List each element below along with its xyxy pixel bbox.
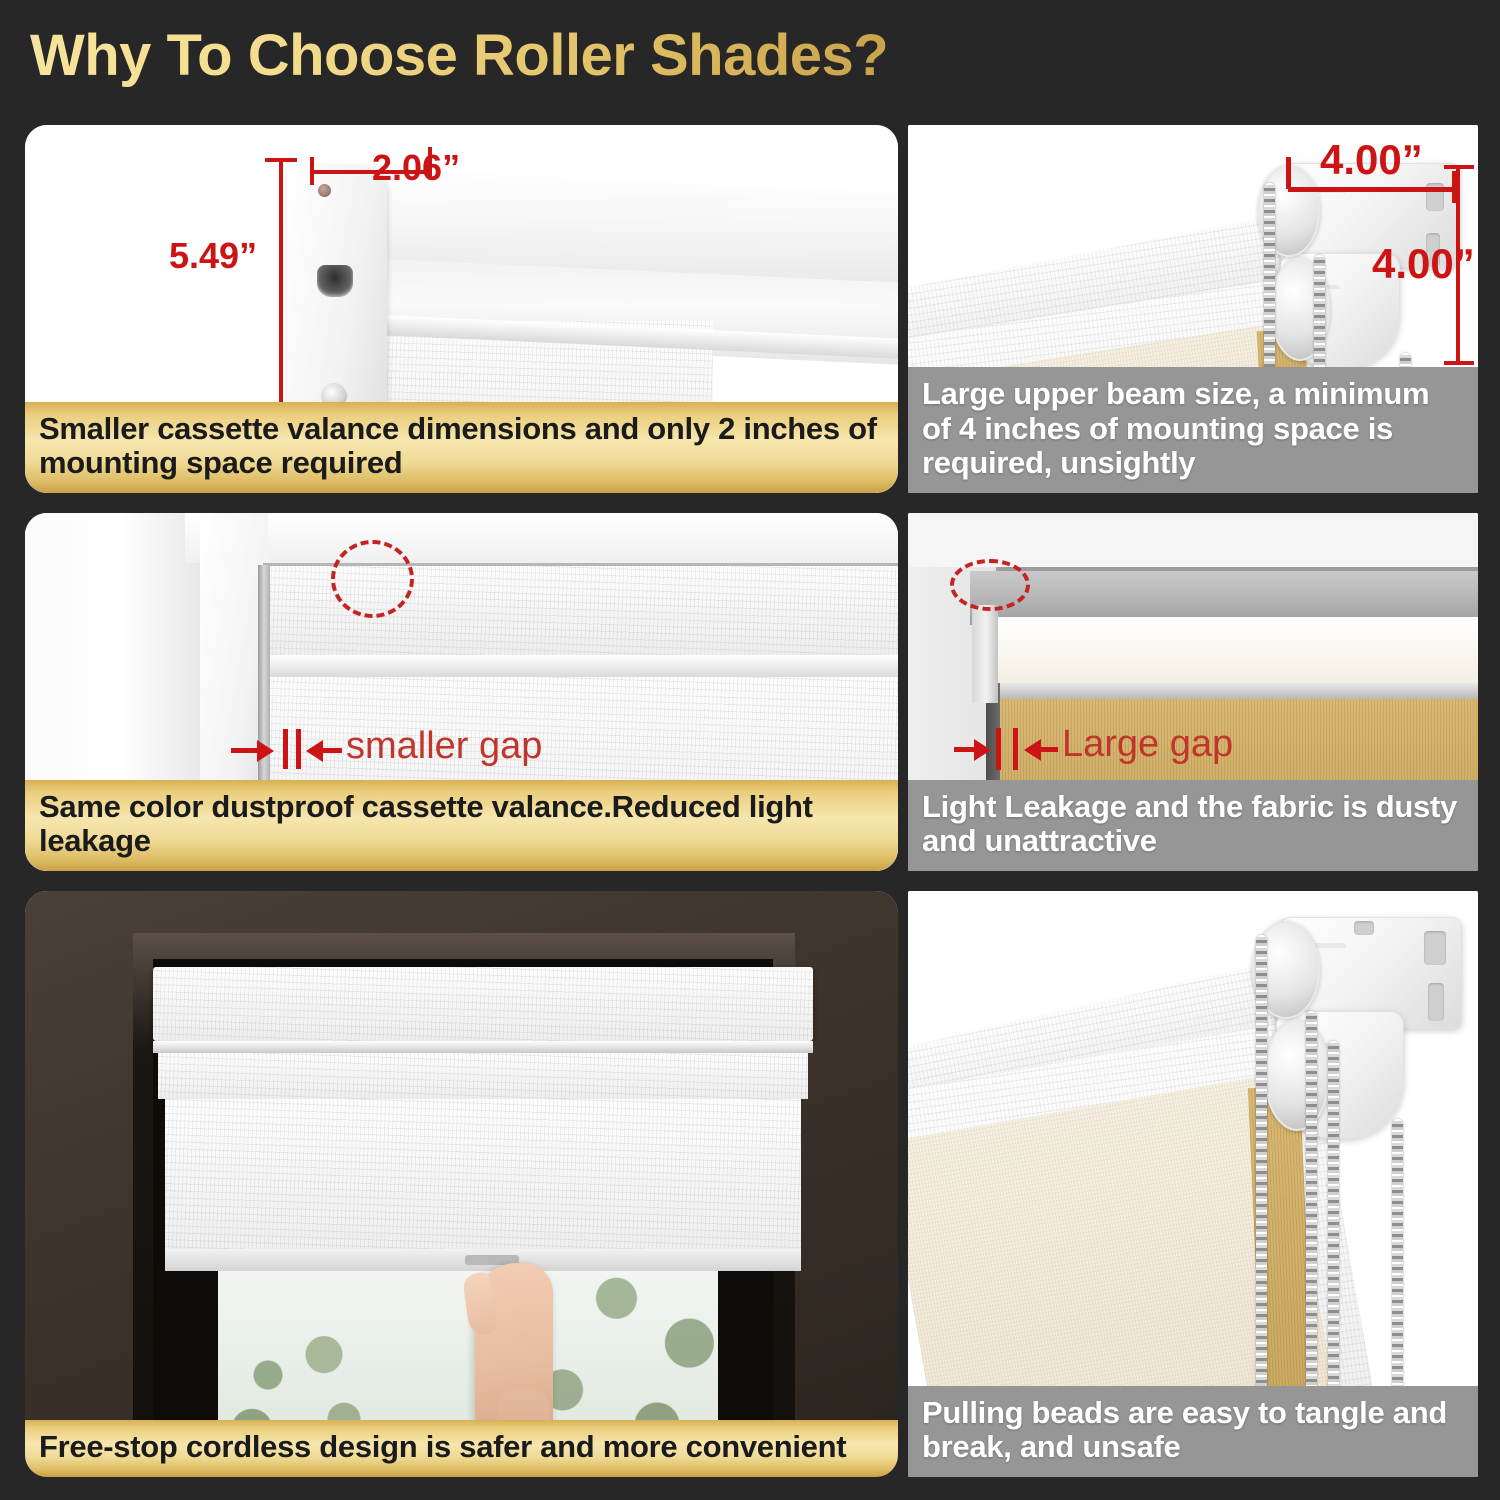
gap-arrow-right-pointing [974,739,991,761]
width-dimension-label: 2.06” [372,147,460,189]
beam-width-cap-left [1286,157,1291,189]
headrail-bottom-edge [984,683,1478,699]
panel-light-leakage: Large gap Light Leakage and the fabric i… [908,513,1478,871]
panel-caption: Pulling beads are easy to tangle and bre… [908,1386,1478,1477]
main-shade-fabric [165,1099,801,1261]
valance-headrail [153,967,813,1041]
panel-dustproof-valance: smaller gap Same color dustproof cassett… [25,513,898,871]
gap-arrow-left-pointing [1024,739,1041,761]
bracket-slot-small [1354,921,1374,935]
headrail-white-face [978,617,1478,683]
height-dimension-label: 5.49” [169,235,257,277]
beam-height-cap-top [1444,165,1474,169]
highlight-ellipse [950,559,1030,611]
gap-arrow-stem-right [322,748,342,753]
panel-caption: Light Leakage and the fabric is dusty an… [908,780,1478,871]
gap-arrow-stem-left [954,747,976,752]
cassette-bracket-slot [317,265,353,297]
gap-arrow-left-pointing [306,740,323,762]
cassette-screw-upper [318,184,331,197]
gap-arrow-stem-left [231,748,259,753]
panel-caption: Same color dustproof cassette valance.Re… [25,780,898,871]
bracket-slot-mid [1428,983,1444,1021]
bracket-side-post [972,605,998,703]
gap-arrow-stem-right [1040,747,1058,752]
beam-height-label: 4.00” [1372,240,1475,288]
comparison-grid: 2.06” 5.49” Smaller cassette valance dim… [0,0,1500,1500]
gap-tick-right [296,729,301,769]
valance-bottom-lip [263,655,898,677]
window-frame-top [185,513,898,563]
valance-lower-band [158,1053,808,1099]
gap-tick-left [283,729,288,769]
gap-tick-left [996,728,1001,770]
beam-width-line [1288,187,1456,192]
beam-width-label: 4.00” [1320,136,1423,184]
roller-end-cap-lower [1264,1019,1330,1131]
height-cap-top [265,158,297,162]
panel-large-upper-beam: 4.00” 4.00” Large upper beam size, a min… [908,125,1478,493]
gap-label: smaller gap [346,725,542,768]
width-extension-left [310,157,314,185]
gap-label: Large gap [1062,723,1233,766]
valance-groove [153,1041,813,1053]
cordless-window-photo [25,891,898,1477]
gap-tick-right [1013,728,1018,770]
panel-caption: Free-stop cordless design is safer and m… [25,1420,898,1477]
panel-caption: Smaller cassette valance dimensions and … [25,402,898,493]
gap-arrow-right-pointing [257,740,274,762]
beam-height-cap-bottom [1444,361,1474,365]
highlight-ellipse [331,540,414,618]
panel-caption: Large upper beam size, a minimum of 4 in… [908,367,1478,493]
panel-cordless-design: Free-stop cordless design is safer and m… [25,891,898,1477]
panel-pulling-beads: Pulling beads are easy to tangle and bre… [908,891,1478,1477]
panel-cassette-dimensions: 2.06” 5.49” Smaller cassette valance dim… [25,125,898,493]
bracket-slot-top [1424,931,1446,965]
